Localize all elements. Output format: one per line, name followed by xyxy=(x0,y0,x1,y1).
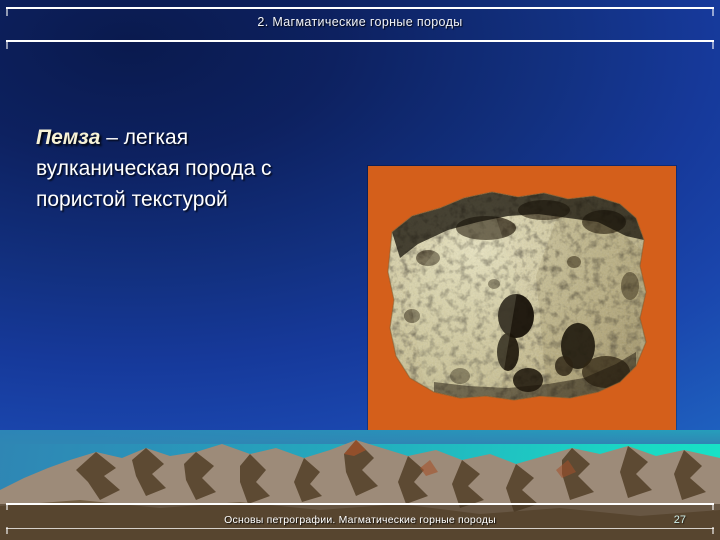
footer-rule-top xyxy=(6,503,714,505)
rock-photo-image xyxy=(368,166,676,443)
footer-rule-bottom xyxy=(6,528,714,529)
page-number: 27 xyxy=(674,514,686,526)
footer-tick-left xyxy=(6,503,8,510)
header-rule-top xyxy=(6,7,714,9)
slide-title: 2. Магматические горные породы xyxy=(0,15,720,29)
slide-body-text: Пемза – легкая вулканическая порода с по… xyxy=(36,122,336,215)
header-tick-right-2 xyxy=(712,42,714,49)
rock-photo xyxy=(368,166,676,443)
footer-text: Основы петрографии. Магматические горные… xyxy=(0,514,720,526)
presentation-slide: 2. Магматические горные породы Пемза – л… xyxy=(0,0,720,540)
header-rule-bottom xyxy=(6,40,714,42)
footer-tick-right xyxy=(712,503,714,510)
footer-tick-left-2 xyxy=(6,527,8,534)
footer-tick-right-2 xyxy=(712,527,714,534)
term-highlight: Пемза xyxy=(36,126,100,149)
header-tick-left-2 xyxy=(6,42,8,49)
pumice-specimen-illustration xyxy=(368,166,676,443)
